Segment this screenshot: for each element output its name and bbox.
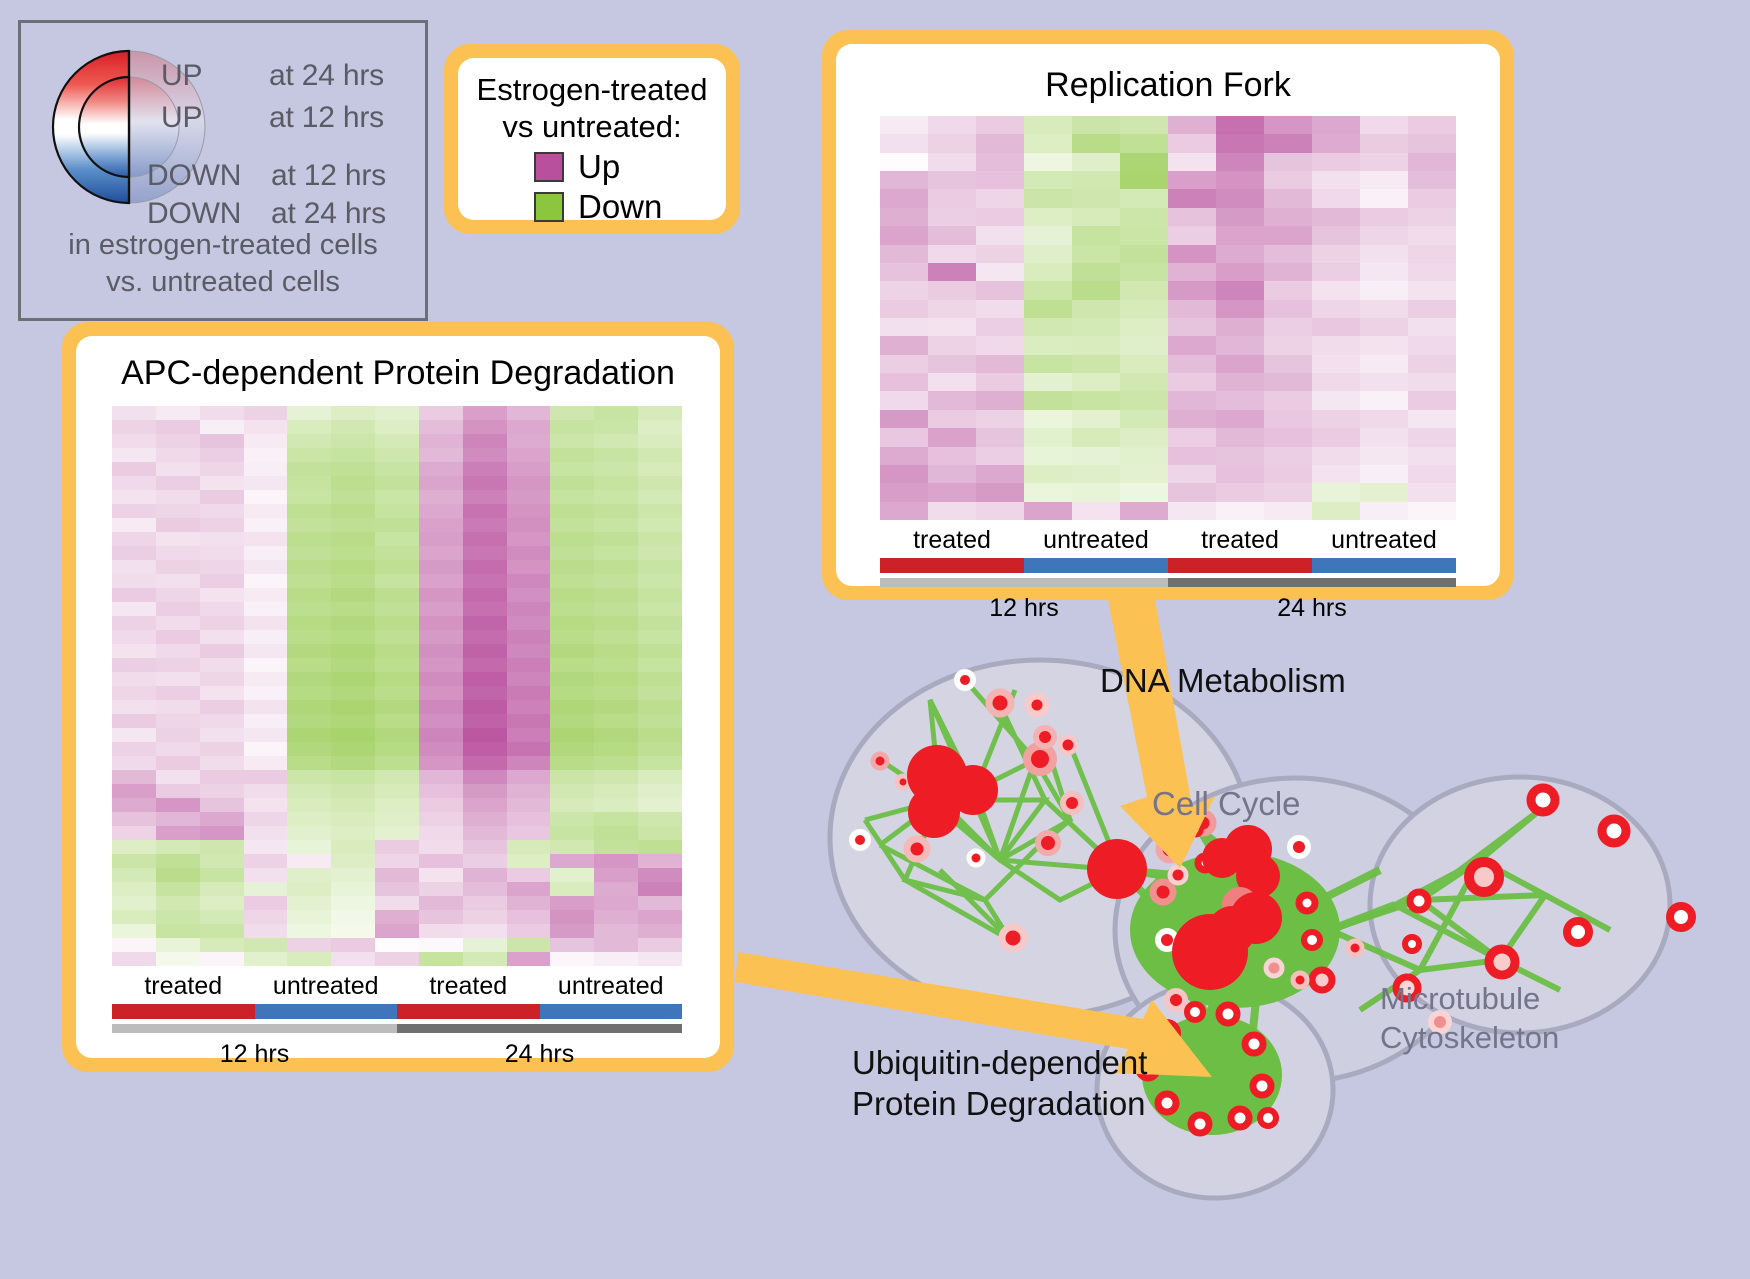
network-label-ubiquitin-line1: Ubiquitin-dependent	[852, 1042, 1147, 1083]
key-footer-line2: vs. untreated cells	[21, 264, 425, 301]
network-label-ubiquitin: Ubiquitin-dependent Protein Degradation	[852, 1042, 1147, 1125]
apc-group-labels: treated untreated treated untreated	[112, 972, 682, 1001]
rf-time-label-24: 24 hrs	[1168, 594, 1456, 623]
arrow-replication-fork	[1108, 600, 1215, 868]
rf-bar-treated-12	[880, 558, 1024, 573]
legend-item-up-label: Up	[578, 150, 620, 183]
network-label-microtubule-line1: Microtubule	[1380, 980, 1559, 1019]
apc-group-label-2: treated	[397, 972, 540, 1001]
apc-treatment-bar	[112, 1004, 682, 1019]
replication-fork-treatment-bar	[880, 558, 1456, 573]
up-down-legend-panel: Estrogen-treated vs untreated: Up Down	[444, 44, 740, 234]
apc-group-label-3: untreated	[540, 972, 683, 1001]
legend-title-line1: Estrogen-treated	[458, 72, 726, 109]
key-row-down-12-time: at 12 hrs	[271, 159, 386, 193]
key-row-down-24-time: at 24 hrs	[271, 197, 386, 231]
apc-time-labels: 12 hrs 24 hrs	[112, 1040, 682, 1069]
replication-fork-panel: Replication Fork treated untreated treat…	[822, 30, 1514, 600]
apc-panel: APC-dependent Protein Degradation treate…	[62, 322, 734, 1072]
legend-title-line2: vs untreated:	[458, 109, 726, 146]
rf-time-label-12: 12 hrs	[880, 594, 1168, 623]
apc-timebar-24	[397, 1024, 682, 1033]
rf-bar-untreated-24	[1312, 558, 1456, 573]
network-label-cell-cycle: Cell Cycle	[1152, 785, 1301, 823]
key-row-up-12-time: at 12 hrs	[269, 101, 384, 135]
network-edges-cellcycle	[1120, 830, 1395, 1080]
replication-fork-title: Replication Fork	[836, 66, 1500, 105]
legend-item-down: Down	[534, 190, 662, 223]
legend-title: Estrogen-treated vs untreated:	[458, 72, 726, 145]
rf-group-label-3: untreated	[1312, 526, 1456, 555]
apc-time-bar	[112, 1024, 682, 1033]
rf-bar-untreated-12	[1024, 558, 1168, 573]
key-row-down-24-dir: DOWN	[147, 197, 241, 231]
rf-group-label-1: untreated	[1024, 526, 1168, 555]
replication-fork-heatmap	[880, 116, 1456, 520]
legend-item-down-label: Down	[578, 190, 662, 223]
apc-bar-treated-12	[112, 1004, 255, 1019]
apc-heatmap	[112, 406, 682, 966]
rf-timebar-24	[1168, 578, 1456, 587]
replication-fork-group-labels: treated untreated treated untreated	[880, 526, 1456, 555]
up-color-swatch	[534, 152, 564, 182]
legend-item-up: Up	[534, 150, 620, 183]
key-row-down-12-dir: DOWN	[147, 159, 241, 193]
key-row-up-24-time: at 24 hrs	[269, 59, 384, 93]
network-label-microtubule-line2: Cytoskeleton	[1380, 1019, 1559, 1058]
apc-panel-inner: APC-dependent Protein Degradation treate…	[76, 336, 720, 1058]
rf-bar-treated-24	[1168, 558, 1312, 573]
key-footer: in estrogen-treated cells vs. untreated …	[21, 227, 425, 301]
apc-time-label-12: 12 hrs	[112, 1040, 397, 1069]
rf-group-label-0: treated	[880, 526, 1024, 555]
rf-timebar-12	[880, 578, 1168, 587]
replication-fork-time-bar	[880, 578, 1456, 587]
ubiquitin-bridge	[1175, 990, 1255, 1085]
cluster-dna-metabolism	[830, 660, 1250, 1016]
apc-group-label-1: untreated	[255, 972, 398, 1001]
replication-fork-time-labels: 12 hrs 24 hrs	[880, 594, 1456, 623]
apc-time-label-24: 24 hrs	[397, 1040, 682, 1069]
network-label-dna-metabolism: DNA Metabolism	[1100, 662, 1346, 700]
key-row-up-24-dir: UP	[161, 59, 202, 93]
apc-timebar-12	[112, 1024, 397, 1033]
apc-title: APC-dependent Protein Degradation	[76, 354, 720, 393]
network-label-microtubule: Microtubule Cytoskeleton	[1380, 980, 1559, 1058]
cellcycle-density-blob	[1130, 852, 1340, 1008]
network-label-ubiquitin-line2: Protein Degradation	[852, 1083, 1147, 1124]
replication-fork-inner: Replication Fork treated untreated treat…	[836, 44, 1500, 586]
legend-panel-inner: Estrogen-treated vs untreated: Up Down	[458, 58, 726, 220]
down-color-swatch	[534, 192, 564, 222]
apc-bar-untreated-24	[540, 1004, 683, 1019]
ubiquitin-density-blob	[1142, 1015, 1282, 1135]
rf-group-label-2: treated	[1168, 526, 1312, 555]
key-footer-line1: in estrogen-treated cells	[21, 227, 425, 264]
apc-bar-untreated-12	[255, 1004, 398, 1019]
legend-key-box: UP at 24 hrs UP at 12 hrs DOWN at 12 hrs…	[18, 20, 428, 321]
apc-group-label-0: treated	[112, 972, 255, 1001]
key-row-up-12-dir: UP	[161, 101, 202, 135]
apc-bar-treated-24	[397, 1004, 540, 1019]
